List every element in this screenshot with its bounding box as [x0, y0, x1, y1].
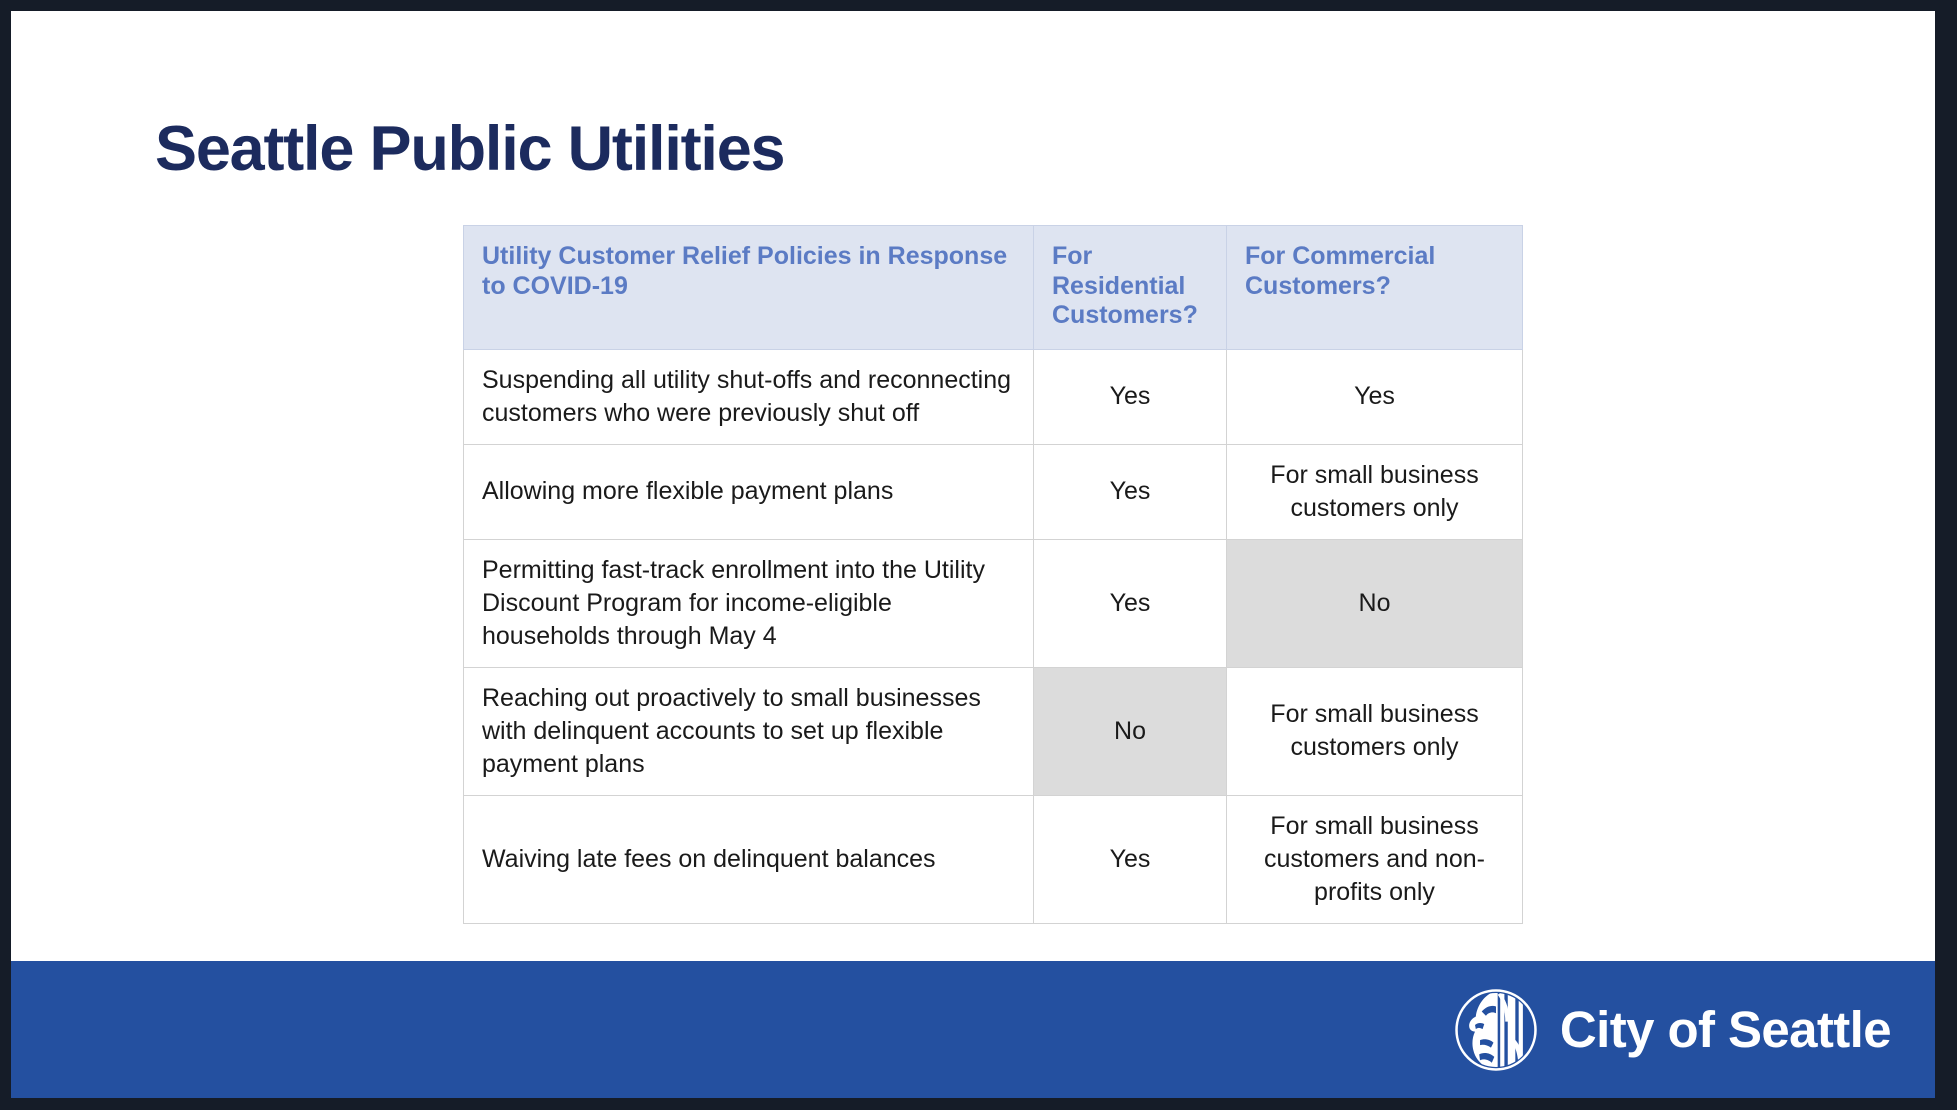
table-header-row: Utility Customer Relief Policies in Resp… — [464, 226, 1523, 350]
column-header-commercial: For Commercial Customers? — [1227, 226, 1523, 350]
column-header-policy: Utility Customer Relief Policies in Resp… — [464, 226, 1034, 350]
table-row: Suspending all utility shut-offs and rec… — [464, 349, 1523, 444]
cell-policy: Suspending all utility shut-offs and rec… — [464, 349, 1034, 444]
column-header-residential: For Residential Customers? — [1034, 226, 1227, 350]
cell-commercial: Yes — [1227, 349, 1523, 444]
cell-policy: Waiving late fees on delinquent balances — [464, 795, 1034, 923]
slide-frame: Seattle Public Utilities Utility Custome… — [0, 0, 1957, 1110]
footer-brand: City of Seattle — [1454, 961, 1891, 1098]
cell-policy: Allowing more flexible payment plans — [464, 444, 1034, 539]
cell-policy: Reaching out proactively to small busine… — [464, 667, 1034, 795]
cell-residential: Yes — [1034, 444, 1227, 539]
slide-canvas: Seattle Public Utilities Utility Custome… — [11, 11, 1935, 1098]
table-row: Reaching out proactively to small busine… — [464, 667, 1523, 795]
table-row: Waiving late fees on delinquent balances… — [464, 795, 1523, 923]
cell-commercial: No — [1227, 539, 1523, 667]
footer-brand-label: City of Seattle — [1560, 1004, 1891, 1055]
utility-relief-policy-table: Utility Customer Relief Policies in Resp… — [463, 225, 1523, 924]
cell-residential: Yes — [1034, 795, 1227, 923]
table-row: Allowing more flexible payment plans Yes… — [464, 444, 1523, 539]
footer-band: City of Seattle — [11, 961, 1935, 1098]
table-header: Utility Customer Relief Policies in Resp… — [464, 226, 1523, 350]
city-of-seattle-seal-icon — [1454, 988, 1538, 1072]
table-body: Suspending all utility shut-offs and rec… — [464, 349, 1523, 923]
cell-residential: Yes — [1034, 349, 1227, 444]
cell-commercial: For small business customers only — [1227, 444, 1523, 539]
table-row: Permitting fast-track enrollment into th… — [464, 539, 1523, 667]
cell-commercial: For small business customers and non-pro… — [1227, 795, 1523, 923]
cell-residential: No — [1034, 667, 1227, 795]
cell-commercial: For small business customers only — [1227, 667, 1523, 795]
page-title: Seattle Public Utilities — [155, 116, 784, 182]
cell-residential: Yes — [1034, 539, 1227, 667]
cell-policy: Permitting fast-track enrollment into th… — [464, 539, 1034, 667]
